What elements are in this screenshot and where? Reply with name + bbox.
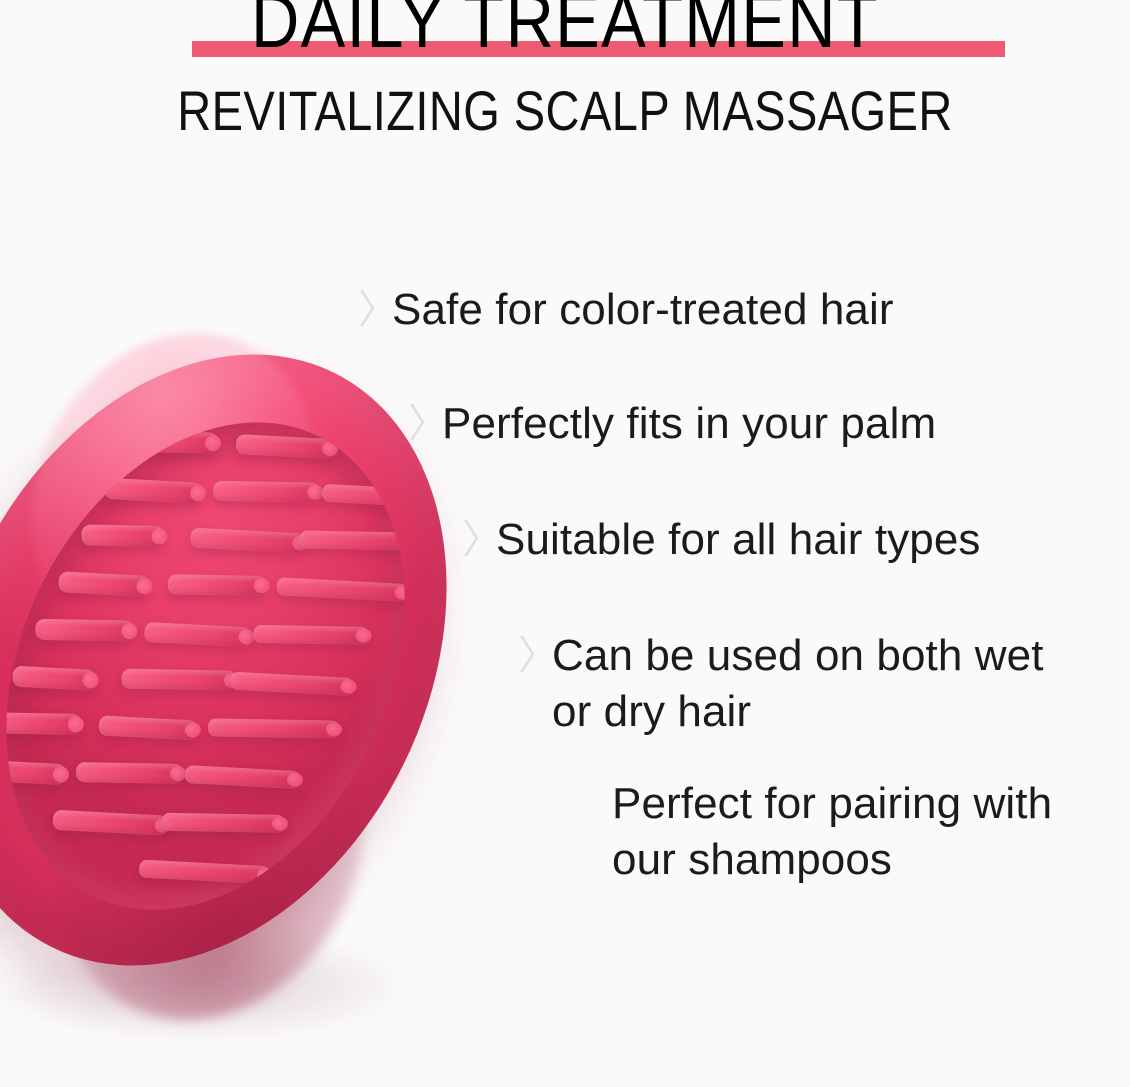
chevron-right-icon: 〉 (518, 628, 552, 684)
feature-label: Perfect for pairing with our shampoos (612, 776, 1052, 888)
list-item: 〉 Perfectly fits in your palm (408, 396, 936, 452)
feature-label: Suitable for all hair types (496, 512, 981, 568)
list-item: 〉 Suitable for all hair types (462, 512, 981, 568)
header: DAILY TREATMENT REVITALIZING SCALP MASSA… (0, 0, 1130, 160)
product-feature-canvas: DAILY TREATMENT REVITALIZING SCALP MASSA… (0, 0, 1130, 1087)
feature-list: 〉 Safe for color-treated hair 〉 Perfectl… (0, 282, 1130, 902)
list-item: 〉 Safe for color-treated hair (358, 282, 894, 338)
list-item: 〉 Perfect for pairing with our shampoos (578, 776, 1052, 888)
chevron-right-icon: 〉 (408, 396, 442, 452)
chevron-right-icon: 〉 (462, 512, 496, 568)
feature-label: Safe for color-treated hair (392, 282, 894, 338)
list-item: 〉 Can be used on both wet or dry hair (518, 628, 1044, 740)
chevron-right-icon: 〉 (358, 282, 392, 338)
page-subtitle: REVITALIZING SCALP MASSAGER (90, 78, 1039, 144)
feature-label: Perfectly fits in your palm (442, 396, 936, 452)
product-drop-shadow (0, 930, 410, 1040)
feature-label: Can be used on both wet or dry hair (552, 628, 1044, 740)
page-title: DAILY TREATMENT (68, 0, 1062, 66)
title-block: DAILY TREATMENT (0, 0, 1130, 76)
